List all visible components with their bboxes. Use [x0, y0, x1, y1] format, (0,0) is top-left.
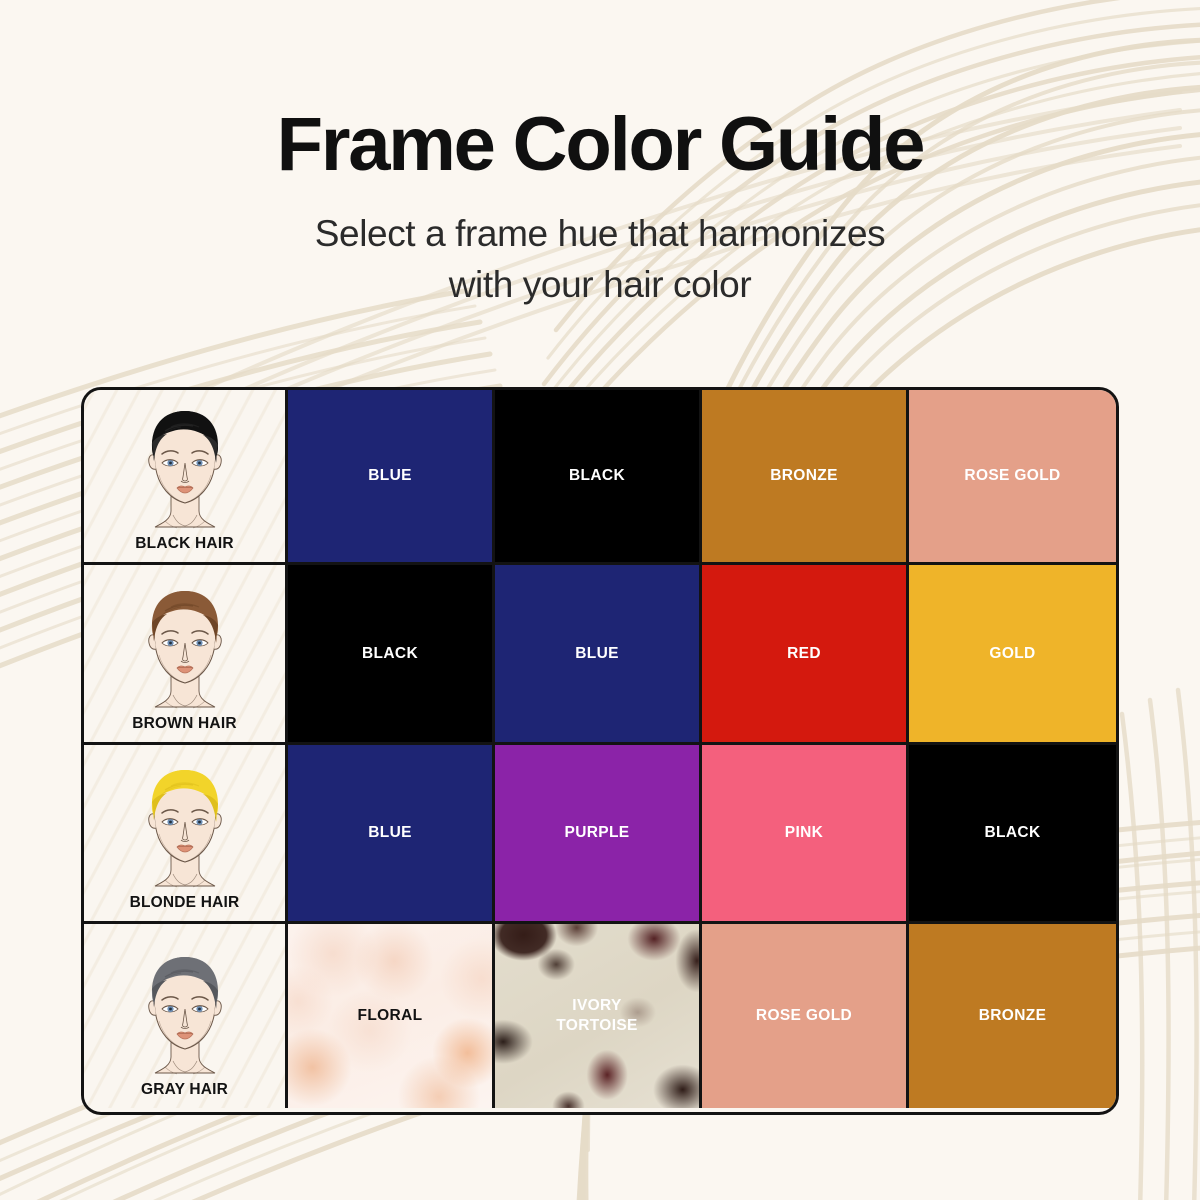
- frame-color-label: IVORYTORTOISE: [556, 996, 637, 1036]
- frame-color-label: BLUE: [575, 644, 619, 664]
- page-header: Frame Color Guide Select a frame hue tha…: [0, 0, 1200, 310]
- female-face-icon: [121, 766, 249, 892]
- frame-color-swatch[interactable]: ROSE GOLD: [909, 390, 1116, 565]
- hair-type-label: BLONDE HAIR: [130, 894, 240, 912]
- frame-color-label: RED: [787, 644, 821, 664]
- page-title: Frame Color Guide: [0, 104, 1200, 186]
- female-face-icon: [121, 407, 249, 533]
- frame-color-label: ROSE GOLD: [964, 466, 1060, 486]
- frame-color-label: BLACK: [985, 823, 1041, 843]
- female-face-icon: [121, 953, 249, 1079]
- frame-color-label: BLACK: [362, 644, 418, 664]
- frame-color-label: FLORAL: [358, 1006, 423, 1026]
- frame-color-swatch[interactable]: BRONZE: [909, 924, 1116, 1108]
- frame-color-swatch[interactable]: RED: [702, 565, 909, 745]
- hair-type-label: BROWN HAIR: [132, 715, 236, 733]
- frame-color-swatch[interactable]: GOLD: [909, 565, 1116, 745]
- frame-color-swatch[interactable]: PINK: [702, 745, 909, 924]
- hair-type-cell: BLONDE HAIR: [84, 745, 288, 924]
- frame-color-swatch[interactable]: BLUE: [288, 745, 495, 924]
- frame-color-swatch[interactable]: BLACK: [909, 745, 1116, 924]
- page-subtitle: Select a frame hue that harmonizes with …: [0, 208, 1200, 310]
- frame-color-label: BLACK: [569, 466, 625, 486]
- frame-color-swatch[interactable]: BLACK: [288, 565, 495, 745]
- frame-color-swatch[interactable]: PURPLE: [495, 745, 702, 924]
- frame-color-swatch[interactable]: BLUE: [288, 390, 495, 565]
- frame-color-label: PINK: [785, 823, 823, 843]
- page-subtitle-line-1: Select a frame hue that harmonizes: [0, 208, 1200, 259]
- frame-color-guide-grid: BLACK HAIRBLUEBLACKBRONZEROSE GOLD: [81, 387, 1119, 1115]
- hair-type-cell: BLACK HAIR: [84, 390, 288, 565]
- frame-color-swatch[interactable]: ROSE GOLD: [702, 924, 909, 1108]
- frame-color-swatch[interactable]: IVORYTORTOISE: [495, 924, 702, 1108]
- hair-type-cell: BROWN HAIR: [84, 565, 288, 745]
- frame-color-label: BRONZE: [979, 1006, 1047, 1026]
- frame-color-label: GOLD: [989, 644, 1035, 664]
- frame-color-label: BRONZE: [770, 466, 838, 486]
- frame-color-swatch[interactable]: BRONZE: [702, 390, 909, 565]
- hair-type-cell: GRAY HAIR: [84, 924, 288, 1108]
- female-face-icon: [121, 587, 249, 713]
- frame-color-swatch[interactable]: FLORAL: [288, 924, 495, 1108]
- frame-color-label: BLUE: [368, 823, 412, 843]
- hair-type-label: GRAY HAIR: [141, 1081, 228, 1099]
- frame-color-label: PURPLE: [565, 823, 630, 843]
- frame-color-swatch[interactable]: BLUE: [495, 565, 702, 745]
- page-subtitle-line-2: with your hair color: [0, 259, 1200, 310]
- frame-color-label: ROSE GOLD: [756, 1006, 852, 1026]
- hair-type-label: BLACK HAIR: [135, 535, 233, 553]
- frame-color-label: BLUE: [368, 466, 412, 486]
- frame-color-swatch[interactable]: BLACK: [495, 390, 702, 565]
